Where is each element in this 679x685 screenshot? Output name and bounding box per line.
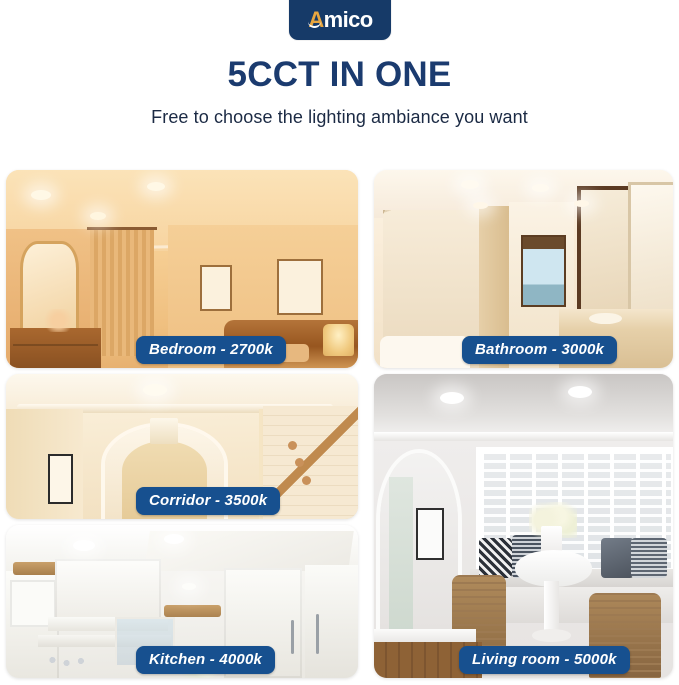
living-room-ceiling: [374, 374, 673, 435]
living-room-pillow: [601, 538, 634, 578]
kitchen-cabinet-handle: [316, 614, 319, 654]
page-title: 5CCT IN ONE: [0, 56, 679, 95]
kitchen-basket-shelf: [164, 605, 220, 617]
bedroom-curtain-rod: [87, 227, 157, 230]
scene-tile-kitchen[interactable]: Kitchen - 4000k: [6, 525, 358, 678]
bathroom-tub: [380, 336, 470, 368]
living-room-framed-art: [416, 508, 444, 561]
corridor-baluster-knob: [295, 458, 304, 467]
kitchen-far-cabinet: [305, 565, 358, 678]
scene-label-kitchen: Kitchen - 4000k: [136, 646, 275, 674]
corridor-framed-art: [48, 454, 73, 504]
downlight-icon: [90, 212, 106, 220]
living-room-archway-opening: [389, 477, 413, 641]
brand-logo-text: Amico: [306, 9, 372, 31]
scene-tile-bathroom[interactable]: Bathroom - 3000k: [374, 170, 673, 368]
scene-label-corridor: Corridor - 3500k: [136, 487, 280, 515]
kitchen-cabinet-handle: [291, 620, 294, 654]
scene-label-living-room: Living room - 5000k: [459, 646, 630, 674]
bedroom-dresser-trim: [13, 344, 97, 346]
living-room-table-stem: [544, 581, 559, 636]
bathroom-window: [521, 235, 567, 306]
living-room-photo: [374, 374, 673, 678]
bedroom-wall-art-2: [277, 259, 323, 314]
downlight-icon: [574, 200, 589, 207]
living-room-table-base: [532, 629, 571, 641]
scene-tile-living-room[interactable]: Living room - 5000k: [374, 374, 673, 678]
kitchen-basket-top: [13, 562, 59, 576]
kitchen-hanging-pots: [41, 652, 97, 672]
living-room-pillow: [479, 538, 512, 578]
bedroom-flower-vase: [41, 309, 76, 333]
downlight-icon: [461, 180, 479, 189]
downlight-icon: [147, 182, 165, 191]
logo-letter-a-icon: A: [308, 7, 323, 32]
page-subtitle: Free to choose the lighting ambiance you…: [0, 107, 679, 128]
corridor-keystone: [150, 418, 178, 444]
corridor-baluster-knob: [288, 441, 297, 450]
downlight-icon: [31, 190, 51, 200]
bedroom-dresser: [10, 328, 102, 368]
downlight-icon: [473, 202, 488, 209]
corridor-baluster-knob: [302, 476, 311, 485]
kitchen-range-hood: [55, 559, 161, 623]
scene-grid: Bedroom - 2700k Bathroom - 3000k: [0, 168, 679, 680]
scene-tile-bedroom[interactable]: Bedroom - 2700k: [6, 170, 358, 368]
living-room-crown-molding: [374, 432, 673, 441]
scene-label-bathroom: Bathroom - 3000k: [462, 336, 617, 364]
brand-logo-rest: mico: [324, 7, 373, 32]
scene-label-bedroom: Bedroom - 2700k: [136, 336, 286, 364]
brand-logo-badge[interactable]: Amico: [289, 0, 391, 40]
brand-logo-container: Amico: [0, 0, 679, 42]
living-room-pillow: [631, 538, 667, 578]
bathroom-mirror-small: [628, 182, 673, 319]
bedroom-wall-art-1: [200, 265, 232, 311]
bedroom-table-lamp: [323, 324, 355, 356]
scene-tile-corridor[interactable]: Corridor - 3500k: [6, 374, 358, 519]
